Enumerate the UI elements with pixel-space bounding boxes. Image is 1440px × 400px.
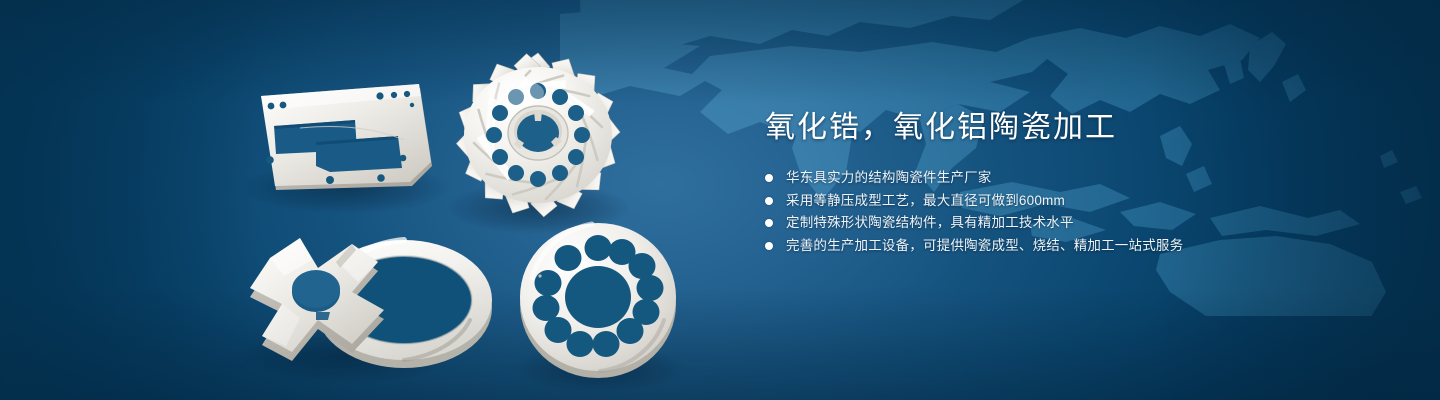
list-item-label: 华东具实力的结构陶瓷件生产厂家 bbox=[786, 167, 992, 190]
bullet-dot-icon bbox=[765, 242, 773, 250]
bullet-dot-icon bbox=[765, 197, 773, 205]
ceramic-products-image bbox=[0, 0, 720, 400]
list-item: 完善的生产加工设备，可提供陶瓷成型、烧结、精加工一站式服务 bbox=[765, 235, 1385, 258]
banner-copy: 氧化锆，氧化铝陶瓷加工 华东具实力的结构陶瓷件生产厂家 采用等静压成型工艺，最大… bbox=[765, 108, 1385, 257]
bullet-dot-icon bbox=[765, 219, 773, 227]
feature-list: 华东具实力的结构陶瓷件生产厂家 采用等静压成型工艺，最大直径可做到600mm 定… bbox=[765, 167, 1385, 257]
ceramic-mounting-plate bbox=[261, 84, 432, 190]
list-item-label: 定制特殊形状陶瓷结构件，具有精加工技术水平 bbox=[786, 212, 1074, 235]
list-item-label: 采用等静压成型工艺，最大直径可做到600mm bbox=[786, 190, 1065, 213]
ceramic-perforated-disc bbox=[520, 223, 676, 378]
list-item: 采用等静压成型工艺，最大直径可做到600mm bbox=[765, 190, 1385, 213]
hero-banner: 氧化锆，氧化铝陶瓷加工 华东具实力的结构陶瓷件生产厂家 采用等静压成型工艺，最大… bbox=[0, 0, 1440, 400]
bullet-dot-icon bbox=[765, 174, 773, 182]
list-item: 定制特殊形状陶瓷结构件，具有精加工技术水平 bbox=[765, 212, 1385, 235]
list-item: 华东具实力的结构陶瓷件生产厂家 bbox=[765, 167, 1385, 190]
page-title: 氧化锆，氧化铝陶瓷加工 bbox=[765, 108, 1385, 148]
list-item-label: 完善的生产加工设备，可提供陶瓷成型、烧结、精加工一站式服务 bbox=[786, 235, 1183, 258]
